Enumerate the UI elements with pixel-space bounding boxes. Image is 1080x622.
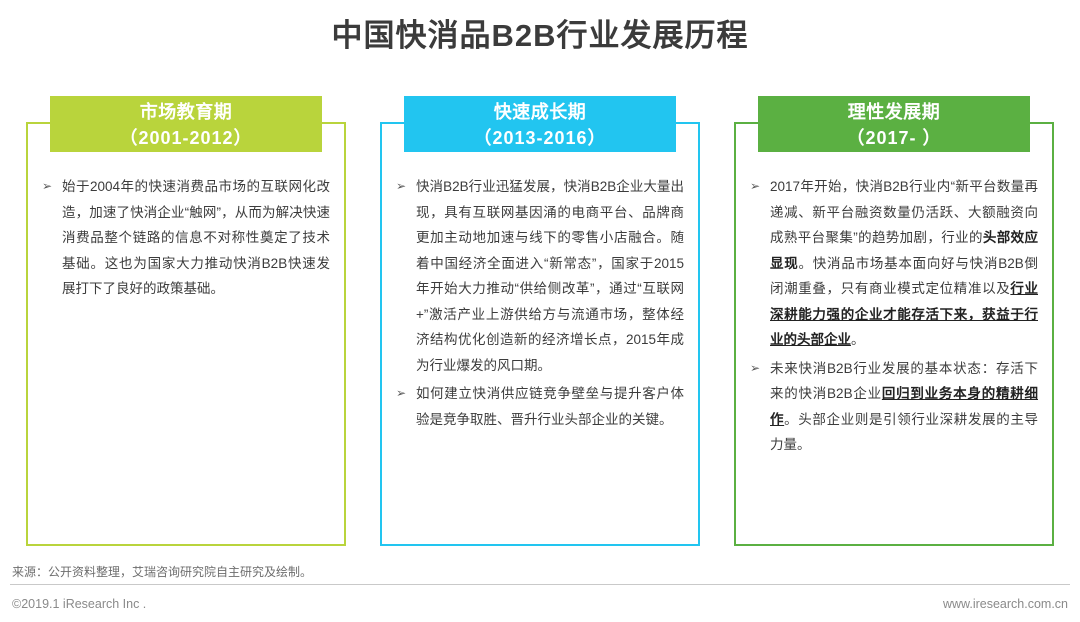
phase-card-rational-development: 理性发展期 （2017- ） ➢2017年开始，快消B2B行业内“新平台数量再递… <box>734 122 1054 546</box>
source-note: 来源：公开资料整理，艾瑞咨询研究院自主研究及绘制。 <box>12 563 312 580</box>
footer-divider <box>10 584 1070 585</box>
phase-body-2: ➢ 快消B2B行业迅猛发展，快消B2B企业大量出现，具有互联网基因涌的电商平台、… <box>390 170 690 534</box>
phase-banner-3: 理性发展期 （2017- ） <box>758 96 1030 152</box>
phase-title-3: 理性发展期 <box>758 99 1030 125</box>
bullet-list-2: ➢ 快消B2B行业迅猛发展，快消B2B企业大量出现，具有互联网基因涌的电商平台、… <box>394 174 684 432</box>
bullet-list-3: ➢2017年开始，快消B2B行业内“新平台数量再递减、新平台融资数量仍活跃、大额… <box>748 174 1038 458</box>
bullet-arrow-icon: ➢ <box>42 174 52 200</box>
page-title: 中国快消品B2B行业发展历程 <box>0 14 1080 58</box>
phase-period-1: （2001-2012） <box>50 125 322 151</box>
phase-body-1: ➢ 始于2004年的快速消费品市场的互联网化改造，加速了快消企业“触网”，从而为… <box>36 170 336 534</box>
bullet-text: 如何建立快消供应链竞争壁垒与提升客户体验是竞争取胜、晋升行业头部企业的关键。 <box>416 386 684 427</box>
bullet-arrow-icon: ➢ <box>750 174 760 200</box>
phase-card-rapid-growth: 快速成长期 （2013-2016） ➢ 快消B2B行业迅猛发展，快消B2B企业大… <box>380 122 700 546</box>
list-item: ➢2017年开始，快消B2B行业内“新平台数量再递减、新平台融资数量仍活跃、大额… <box>748 174 1038 353</box>
phase-banner-1: 市场教育期 （2001-2012） <box>50 96 322 152</box>
bullet-arrow-icon: ➢ <box>396 381 406 407</box>
phase-title-2: 快速成长期 <box>404 99 676 125</box>
list-item: ➢ 始于2004年的快速消费品市场的互联网化改造，加速了快消企业“触网”，从而为… <box>40 174 330 302</box>
copyright-text: ©2019.1 iResearch Inc . <box>12 597 146 611</box>
list-item: ➢未来快消B2B行业发展的基本状态：存活下来的快消B2B企业回归到业务本身的精耕… <box>748 356 1038 458</box>
phase-banner-2: 快速成长期 （2013-2016） <box>404 96 676 152</box>
bullet-arrow-icon: ➢ <box>750 356 760 382</box>
website-url: www.iresearch.com.cn <box>943 597 1068 611</box>
phase-period-3: （2017- ） <box>758 125 1030 151</box>
phase-title-1: 市场教育期 <box>50 99 322 125</box>
phase-period-2: （2013-2016） <box>404 125 676 151</box>
bullet-arrow-icon: ➢ <box>396 174 406 200</box>
phase-card-market-education: 市场教育期 （2001-2012） ➢ 始于2004年的快速消费品市场的互联网化… <box>26 122 346 546</box>
bullet-text: 未来快消B2B行业发展的基本状态：存活下来的快消B2B企业回归到业务本身的精耕细… <box>770 361 1038 453</box>
bullet-text: 始于2004年的快速消费品市场的互联网化改造，加速了快消企业“触网”，从而为解决… <box>62 179 330 296</box>
phases-row: 市场教育期 （2001-2012） ➢ 始于2004年的快速消费品市场的互联网化… <box>26 122 1054 546</box>
list-item: ➢ 如何建立快消供应链竞争壁垒与提升客户体验是竞争取胜、晋升行业头部企业的关键。 <box>394 381 684 432</box>
list-item: ➢ 快消B2B行业迅猛发展，快消B2B企业大量出现，具有互联网基因涌的电商平台、… <box>394 174 684 378</box>
bullet-text: 2017年开始，快消B2B行业内“新平台数量再递减、新平台融资数量仍活跃、大额融… <box>770 179 1038 347</box>
phase-body-3: ➢2017年开始，快消B2B行业内“新平台数量再递减、新平台融资数量仍活跃、大额… <box>744 170 1044 534</box>
bullet-text: 快消B2B行业迅猛发展，快消B2B企业大量出现，具有互联网基因涌的电商平台、品牌… <box>416 179 684 373</box>
bullet-list-1: ➢ 始于2004年的快速消费品市场的互联网化改造，加速了快消企业“触网”，从而为… <box>40 174 330 302</box>
